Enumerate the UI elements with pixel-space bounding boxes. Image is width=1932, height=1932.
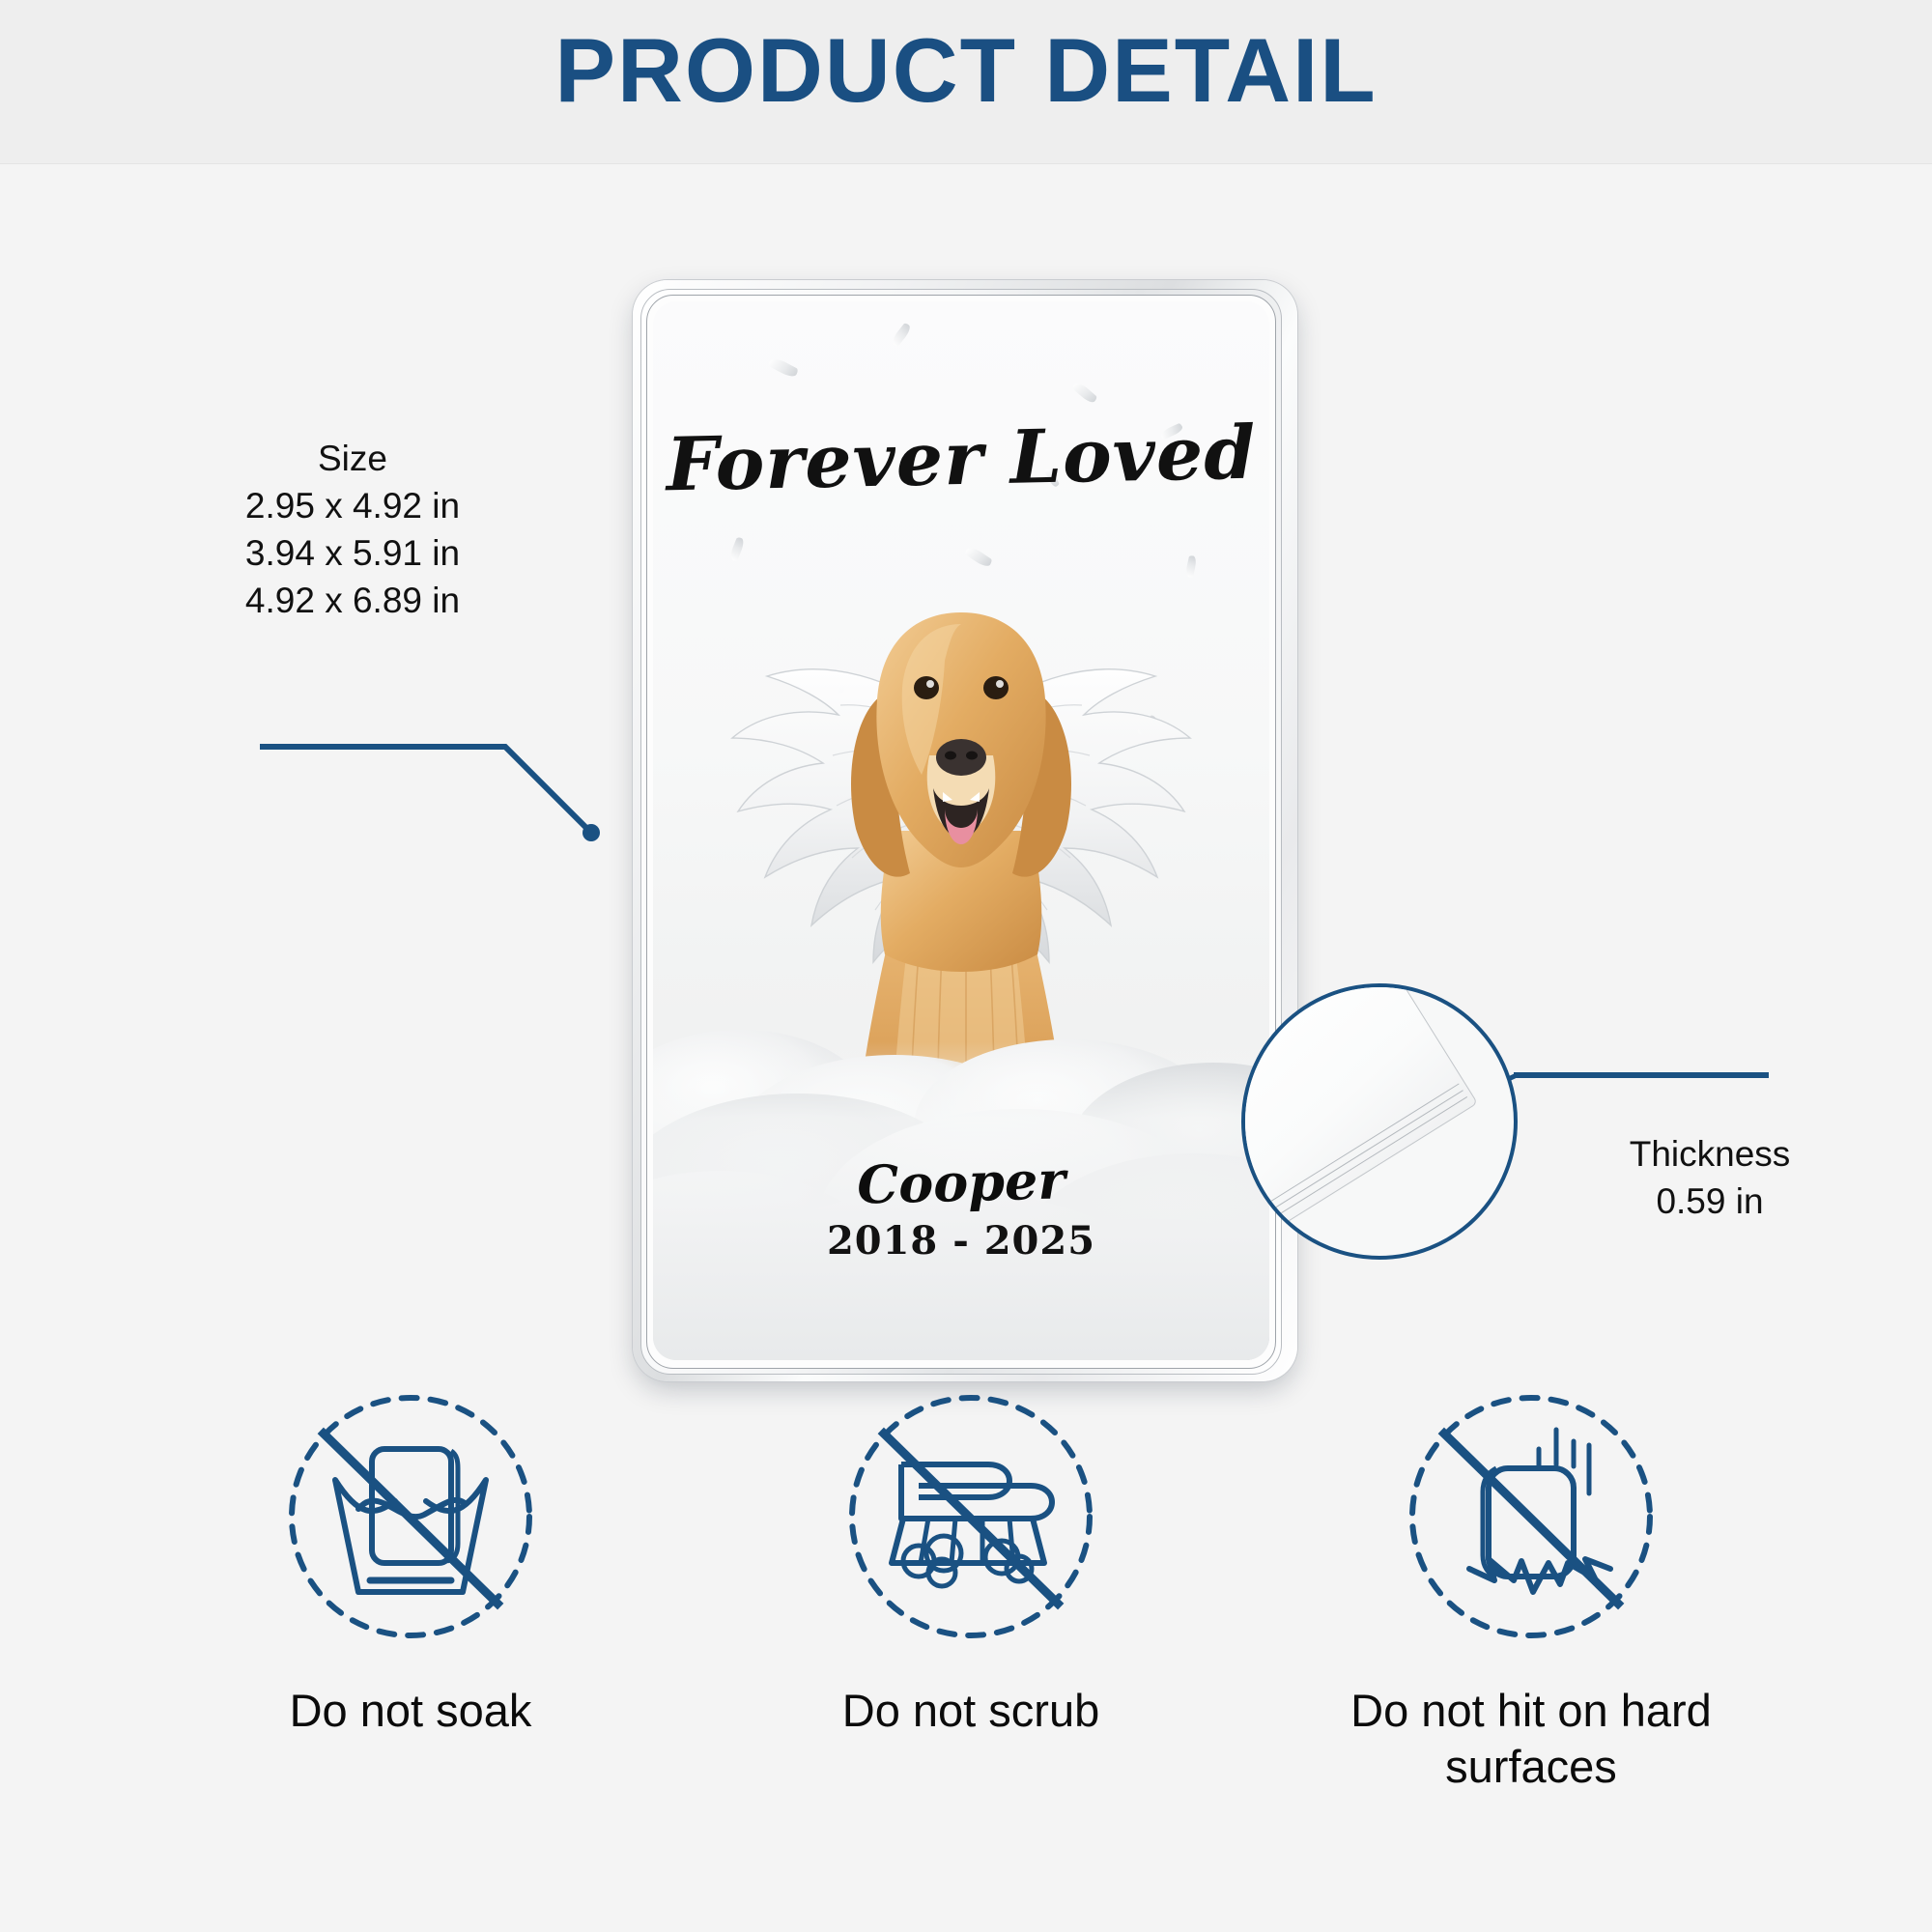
no-soak-icon xyxy=(266,1372,555,1662)
thickness-callout-value: 0.59 in xyxy=(1546,1178,1874,1225)
thickness-callout-label: Thickness xyxy=(1546,1130,1874,1178)
care-item-do-not-scrub: Do not scrub xyxy=(691,1372,1251,1795)
no-scrub-icon xyxy=(826,1372,1116,1662)
care-instructions-row: Do not soak xyxy=(0,1372,1932,1795)
no-hit-hard-surface-icon xyxy=(1386,1372,1676,1662)
care-item-do-not-soak: Do not soak xyxy=(130,1372,691,1795)
thickness-callout: Thickness 0.59 in xyxy=(1546,1130,1874,1225)
pet-years: 2018 - 2025 xyxy=(653,1218,1269,1264)
size-callout-label: Size xyxy=(198,435,507,482)
size-option-1: 2.95 x 4.92 in xyxy=(198,482,507,529)
magnified-plaque-corner xyxy=(1241,983,1518,1260)
acrylic-plaque: Forever Loved xyxy=(628,280,1304,1391)
page-title: PRODUCT DETAIL xyxy=(0,25,1932,116)
plaque-edge-slab xyxy=(1241,983,1478,1233)
care-caption: Do not scrub xyxy=(842,1683,1099,1739)
care-caption: Do not hit on hard surfaces xyxy=(1323,1683,1739,1795)
size-callout: Size 2.95 x 4.92 in 3.94 x 5.91 in 4.92 … xyxy=(198,435,507,624)
care-item-do-not-hit: Do not hit on hard surfaces xyxy=(1251,1372,1811,1795)
size-option-2: 3.94 x 5.91 in xyxy=(198,529,507,577)
care-caption: Do not soak xyxy=(290,1683,532,1739)
plaque-printed-face: Forever Loved xyxy=(653,301,1269,1360)
thickness-magnifier xyxy=(1241,983,1518,1260)
size-option-3: 4.92 x 6.89 in xyxy=(198,577,507,624)
product-detail-stage: Forever Loved xyxy=(0,164,1932,1932)
